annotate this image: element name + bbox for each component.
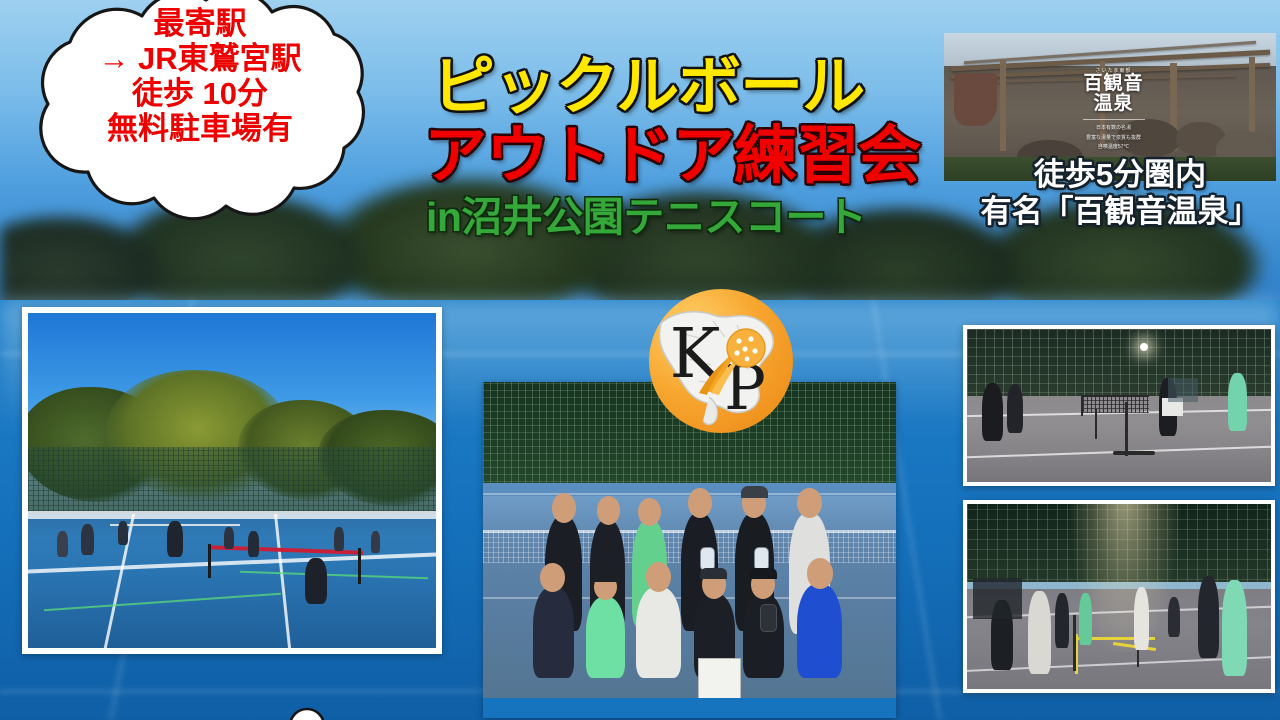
access-line-2: → JR東鷲宮駅 xyxy=(24,41,376,76)
onsen-watermark-divider xyxy=(1083,119,1145,120)
onsen-watermark-sub3: 自噴温度57℃ xyxy=(1056,143,1171,153)
onsen-watermark-line2: 温泉 xyxy=(1056,94,1171,114)
onsen-watermark-top: さいたま東部 xyxy=(1056,69,1171,74)
photo-sunny-outdoor-court xyxy=(22,307,442,654)
onsen-watermark-sub2: 豊富な湯量で泉質も抜群 xyxy=(1056,134,1171,144)
access-line-4: 無料駐車場有 xyxy=(24,111,376,146)
onsen-caption-line1: 徒歩5分圏内 xyxy=(960,158,1280,192)
poster-canvas: さいたま東部 百観音 温泉 日本有数の名湯 豊富な湯量で泉質も抜群 自噴温度57… xyxy=(0,0,1280,720)
cloud-puff-decoration xyxy=(282,700,332,720)
access-info-bubble: 最寄駅 → JR東鷲宮駅 徒歩 10分 無料駐車場有 xyxy=(0,0,446,238)
headline-line-3: in沼井公園テニスコート xyxy=(426,197,984,238)
access-line-3: 徒歩 10分 xyxy=(24,76,376,111)
headline-line-1: ピックルボール xyxy=(432,56,984,119)
onsen-watermark: さいたま東部 百観音 温泉 日本有数の名湯 豊富な湯量で泉質も抜群 自噴温度57… xyxy=(1056,69,1171,153)
headline-line-2: アウトドア練習会 xyxy=(424,125,984,188)
kp-logo: K P xyxy=(641,281,801,441)
photo-night-practice xyxy=(963,500,1275,693)
headline-block: ピックルボール アウトドア練習会 in沼井公園テニスコート xyxy=(424,56,984,238)
onsen-watermark-sub1: 日本有数の名湯 xyxy=(1056,124,1171,134)
access-line-1: 最寄駅 xyxy=(24,6,376,41)
logo-pickleball-icon xyxy=(727,329,765,367)
photo-evening-doubles xyxy=(963,325,1275,486)
onsen-caption-line2: 有名「百観音温泉」 xyxy=(960,195,1280,229)
onsen-caption: 徒歩5分圏内 有名「百観音温泉」 xyxy=(960,158,1280,229)
access-info-text: 最寄駅 → JR東鷲宮駅 徒歩 10分 無料駐車場有 xyxy=(24,6,376,146)
